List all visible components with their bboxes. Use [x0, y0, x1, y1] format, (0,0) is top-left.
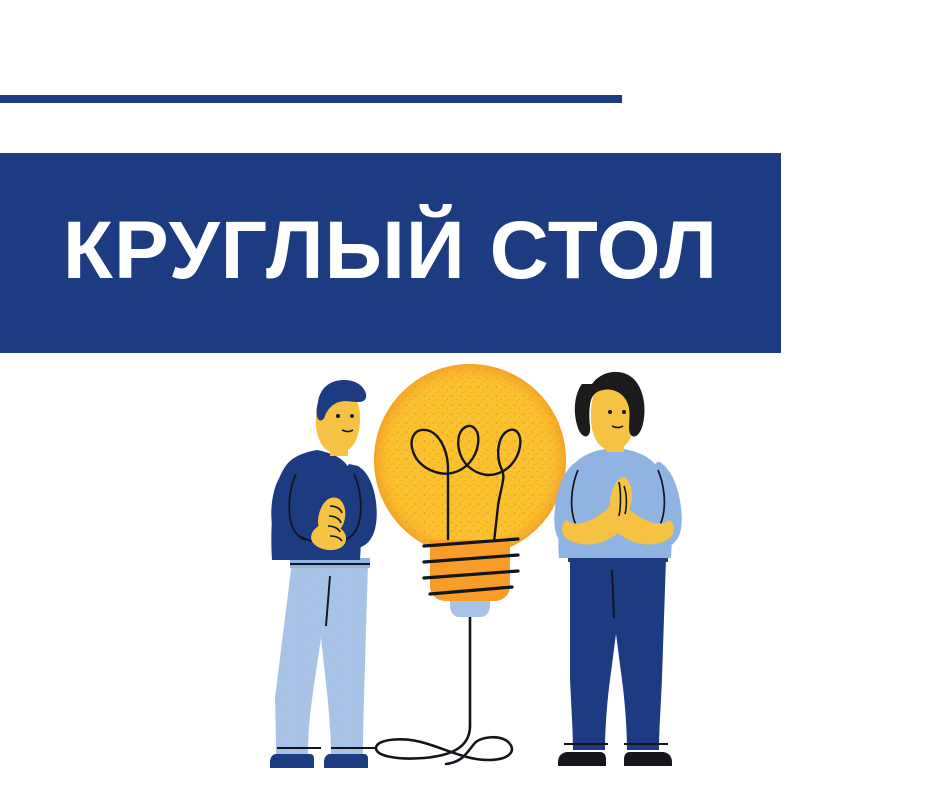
top-accent-rule	[0, 95, 622, 103]
title-banner: КРУГЛЫЙ СТОЛ	[0, 153, 781, 353]
slide-canvas: КРУГЛЫЙ СТОЛ	[0, 0, 940, 788]
person-right-woman	[554, 372, 682, 766]
left-man-shoe-right	[324, 754, 368, 768]
round-table-illustration	[0, 340, 940, 788]
page-title: КРУГЛЫЙ СТОЛ	[63, 210, 718, 296]
right-woman-shoe-right	[624, 752, 672, 766]
right-woman-trousers	[570, 558, 666, 750]
left-man-trousers	[275, 562, 368, 754]
bulb-cord-icon	[376, 596, 512, 764]
right-woman-shoe-left	[558, 752, 606, 766]
bulb-contact-tip	[450, 601, 490, 617]
person-left-man	[270, 380, 377, 768]
left-man-shoe-left	[270, 754, 314, 768]
light-bulb-icon	[374, 364, 566, 764]
bulb-glass-shading	[374, 364, 566, 556]
